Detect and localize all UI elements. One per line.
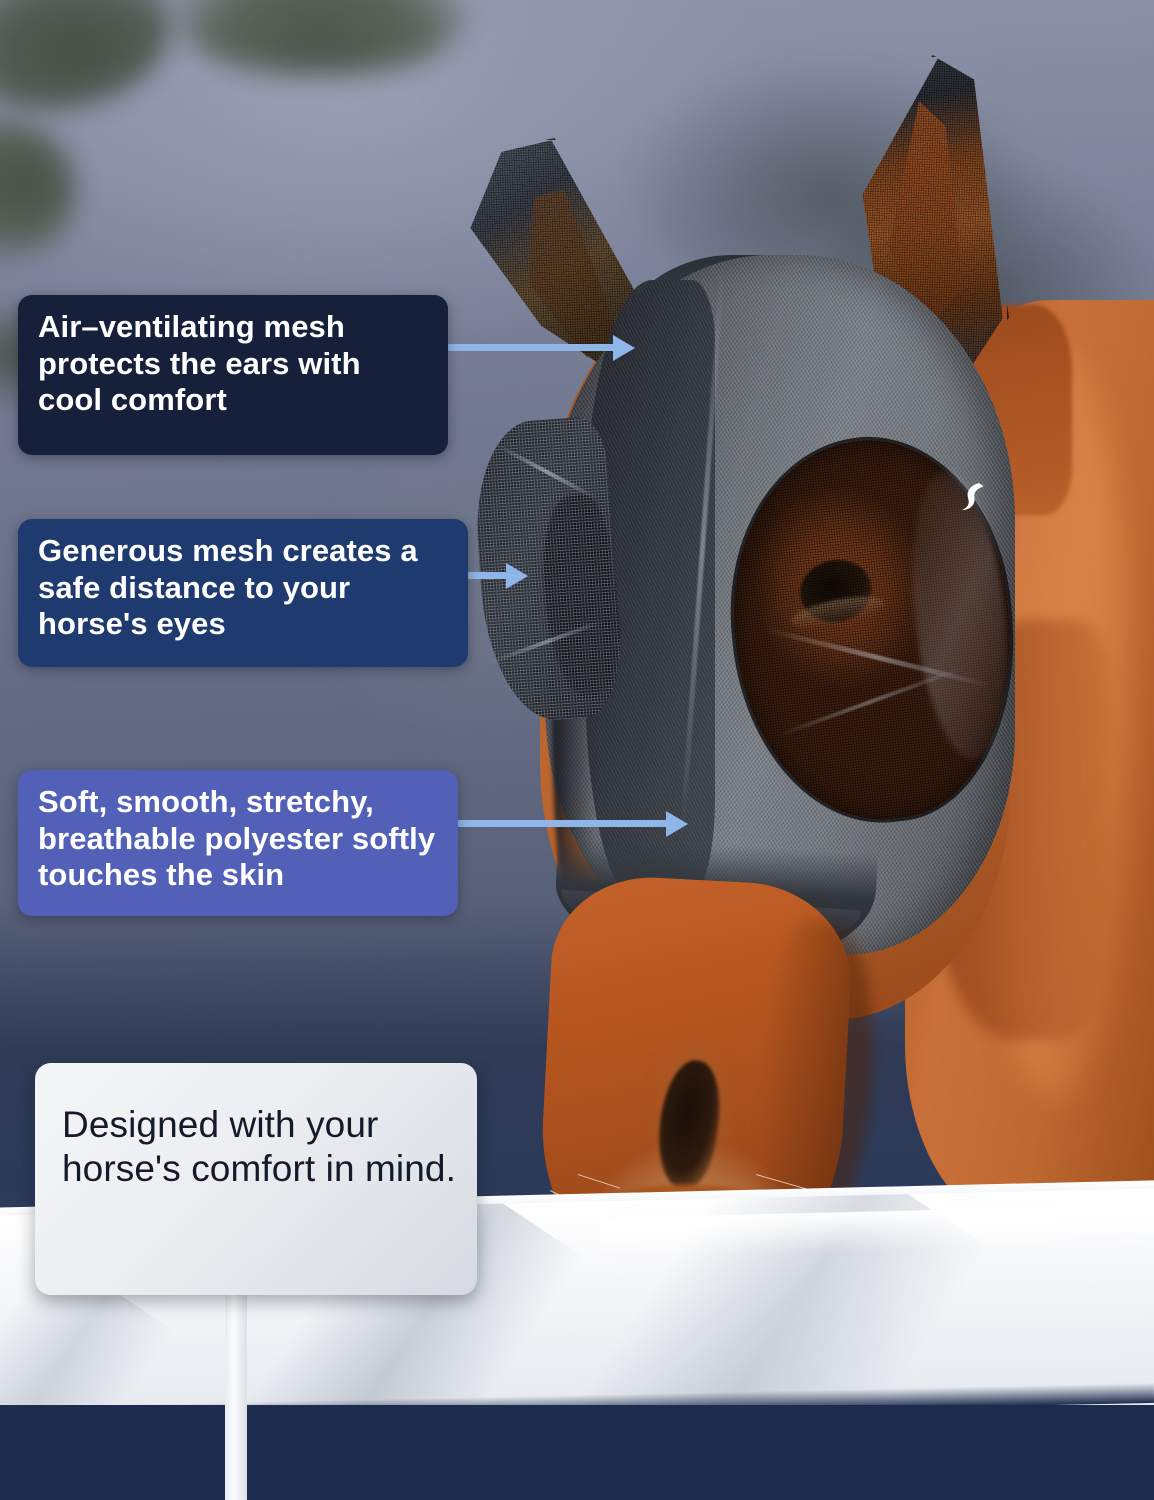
sign-text: Designed with your horse's comfort in mi… (62, 1103, 462, 1192)
callout-text: Air–ventilating mesh protects the ears w… (38, 309, 428, 419)
bottom-navy-band (0, 1405, 1154, 1500)
callout-air-ventilating-mesh: Air–ventilating mesh protects the ears w… (18, 295, 448, 455)
product-infographic-scene: Designed with your horse's comfort in mi… (0, 0, 1154, 1500)
callout-text: Generous mesh creates a safe distance to… (38, 533, 448, 643)
callout-arrow-ear-mesh (440, 344, 615, 351)
callout-text: Soft, smooth, stretchy, breathable polye… (38, 784, 438, 894)
callout-arrow-polyester (440, 820, 668, 827)
callout-soft-polyester: Soft, smooth, stretchy, breathable polye… (18, 770, 458, 916)
callout-generous-mesh: Generous mesh creates a safe distance to… (18, 519, 468, 667)
sign-post (225, 1285, 247, 1500)
